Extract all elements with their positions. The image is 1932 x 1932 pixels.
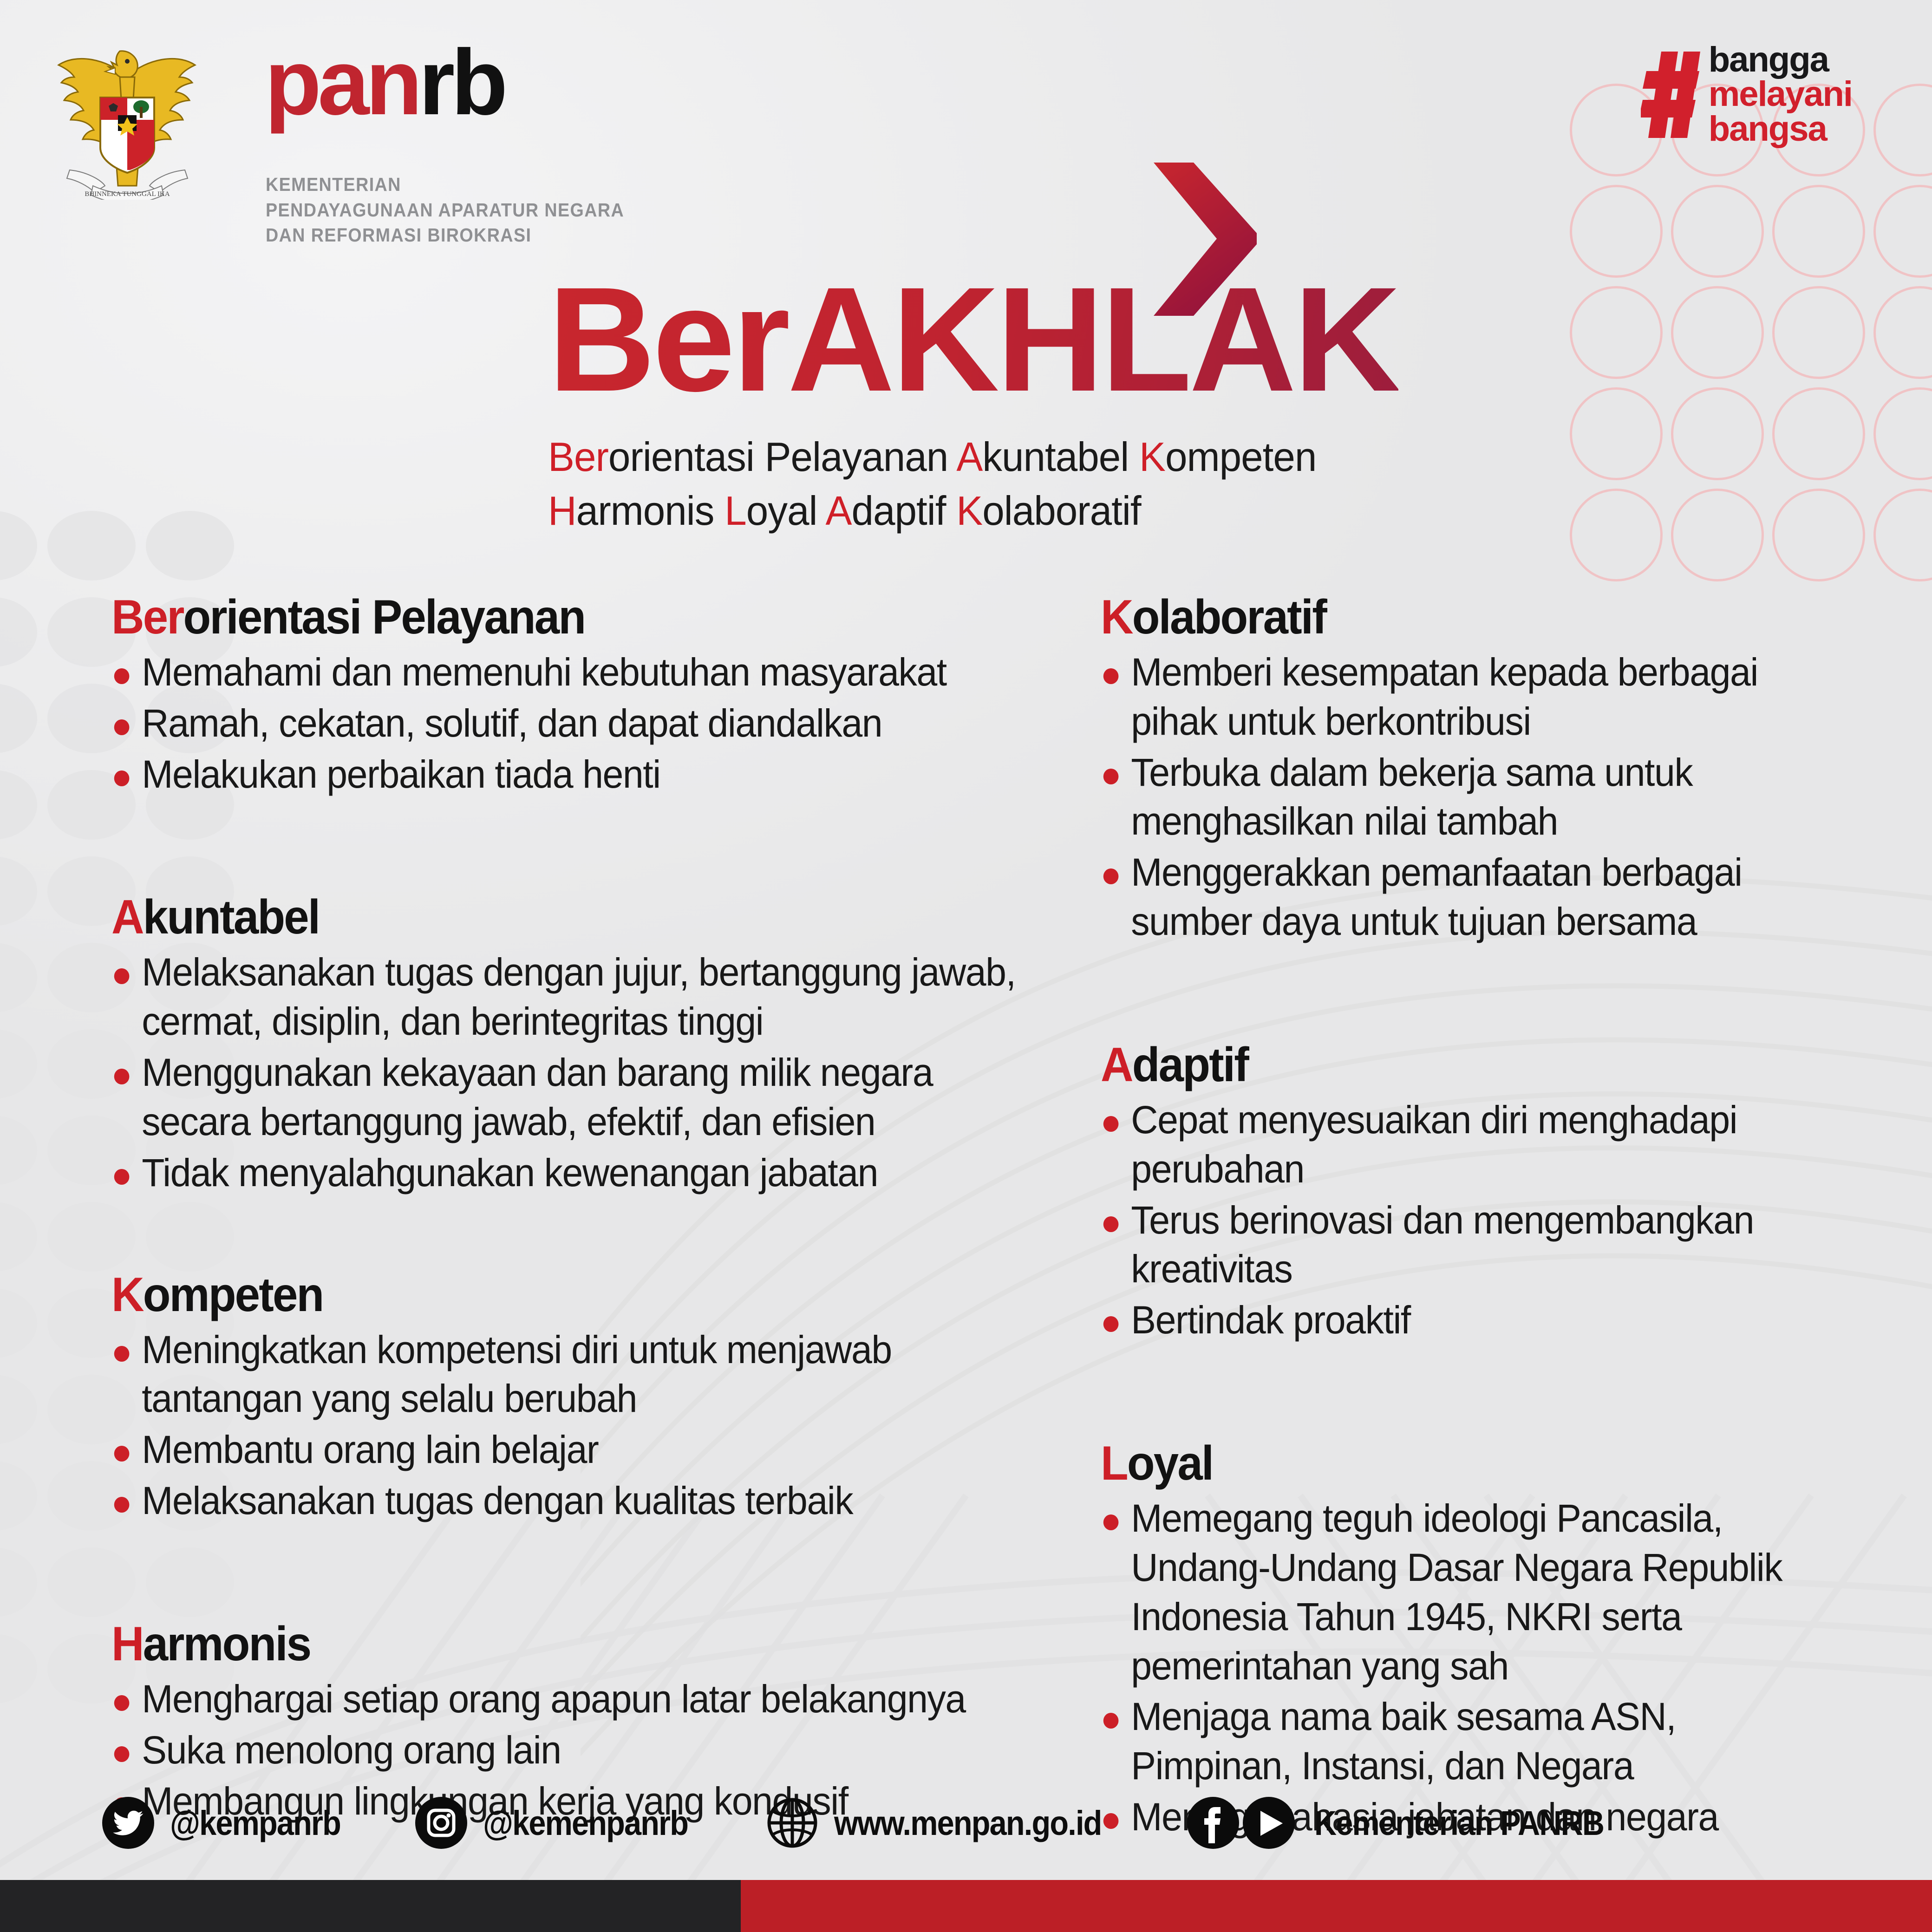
value-point: Menggerakkan pemanfaatan berbagai sumber…	[1101, 848, 1823, 946]
value-point: Terbuka dalam bekerja sama untuk menghas…	[1101, 748, 1823, 847]
value-point-list: Melaksanakan tugas dengan jujur, bertang…	[111, 948, 1073, 1197]
ministry-line-1: KEMENTERIAN	[266, 172, 624, 197]
hero-subtitle-line-2: Harmonis Loyal Adaptif Kolaboratif	[548, 484, 1809, 538]
bottom-accent-bar	[0, 1880, 1932, 1932]
value-point: Meningkatkan kompetensi diri untuk menja…	[111, 1325, 1034, 1424]
twitter-icon	[102, 1797, 154, 1849]
value-point: Memegang teguh ideologi Pancasila, Undan…	[1101, 1494, 1823, 1690]
ministry-line-3: DAN REFORMASI BIROKRASI	[266, 222, 624, 248]
value-point: Terus berinovasi dan mengembangkan kreat…	[1101, 1196, 1823, 1294]
value-title-initial: A	[111, 890, 143, 944]
value-title: Akuntabel	[111, 890, 1015, 945]
decorative-dot	[0, 1288, 37, 1358]
decorative-dot	[47, 511, 136, 581]
value-title-rest: olaboratif	[1132, 590, 1326, 644]
hero-section: BerAKHLAK Berorientasi Pelayanan Akuntab…	[548, 265, 1848, 538]
value-point-list: Memahami dan memenuhi kebutuhan masyarak…	[111, 648, 1073, 799]
value-title-rest: oyal	[1127, 1436, 1213, 1490]
instagram-icon	[415, 1797, 467, 1849]
value-title-initial: Ber	[111, 590, 183, 644]
subtitle-highlight-letter: A	[826, 488, 852, 534]
tagline-line-3: bangsa	[1709, 112, 1852, 146]
value-title: Kolaboratif	[1101, 590, 1808, 645]
value-point: Suka menolong orang lain	[111, 1726, 1034, 1775]
value-point: Bertindak proaktif	[1101, 1296, 1823, 1345]
value-point: Melaksanakan tugas dengan kualitas terba…	[111, 1476, 1034, 1526]
decorative-dot	[0, 1202, 37, 1272]
value-block: KolaboratifMemberi kesempatan kepada ber…	[1101, 590, 1853, 946]
tagline-line-2: melayani	[1709, 77, 1852, 111]
value-point: Melakukan perbaikan tiada henti	[111, 750, 1034, 799]
garuda-emblem-icon: BHINNEKA TUNGGAL IKA	[50, 33, 203, 200]
value-title: Loyal	[1101, 1436, 1808, 1491]
subtitle-text: orientasi Pelayanan	[608, 434, 956, 480]
subtitle-text: olaboratif	[982, 488, 1141, 534]
value-title: Adaptif	[1101, 1038, 1808, 1093]
subtitle-text: kuntabel	[982, 434, 1139, 480]
footer-label-instagram: @kemenpanrb	[483, 1803, 688, 1843]
value-title-rest: armonis	[143, 1617, 311, 1671]
page-title: BerAKHLAK	[548, 265, 1398, 413]
subtitle-text: armonis	[576, 488, 725, 534]
panrb-wordmark-rb: rb	[419, 31, 504, 134]
value-block: AdaptifCepat menyesuaikan diri menghadap…	[1101, 1038, 1853, 1345]
subtitle-highlight-letter: Ber	[548, 434, 608, 480]
decorative-dot	[0, 511, 37, 581]
decorative-circle	[1873, 387, 1932, 480]
decorative-dot	[0, 1375, 37, 1444]
tagline-line-1: bangga	[1709, 43, 1852, 77]
values-column-right: KolaboratifMemberi kesempatan kepada ber…	[1101, 590, 1853, 1886]
value-point: Cepat menyesuaikan diri menghadapi perub…	[1101, 1096, 1823, 1194]
hero-subtitle: Berorientasi Pelayanan Akuntabel Kompete…	[548, 430, 1809, 538]
decorative-dot	[0, 770, 37, 840]
footer-label-facebook-youtube: Kementerian PANRB	[1314, 1803, 1604, 1843]
subtitle-text: oyal	[746, 488, 826, 534]
decorative-dot	[0, 597, 37, 667]
subtitle-highlight-letter: K	[956, 488, 982, 534]
value-block: Berorientasi PelayananMemahami dan memen…	[111, 590, 1073, 799]
value-title-rest: kuntabel	[143, 890, 319, 944]
chevron-right-icon	[1147, 163, 1259, 316]
bangga-melayani-bangsa-logo: bangga melayani bangsa	[1641, 43, 1852, 146]
hashtag-icon	[1641, 51, 1700, 139]
subtitle-highlight-letter: A	[956, 434, 982, 480]
value-title-rest: daptif	[1132, 1038, 1248, 1092]
value-title-rest: ompeten	[143, 1268, 323, 1322]
value-block: KompetenMeningkatkan kompetensi diri unt…	[111, 1267, 1073, 1526]
value-point: Membantu orang lain belajar	[111, 1425, 1034, 1475]
value-title-initial: H	[111, 1617, 143, 1671]
hero-title-wrap: BerAKHLAK	[548, 265, 1848, 418]
value-point: Ramah, cekatan, solutif, dan dapat diand…	[111, 699, 1034, 748]
bottom-bar-red-segment	[741, 1880, 1932, 1932]
value-title: Berorientasi Pelayanan	[111, 590, 1015, 645]
value-point: Menggunakan kekayaan dan barang milik ne…	[111, 1048, 1034, 1147]
decorative-circle	[1873, 489, 1932, 581]
value-point: Menghargai setiap orang apapun latar bel…	[111, 1675, 1034, 1724]
bottom-bar-dark-segment	[0, 1880, 741, 1932]
subtitle-highlight-letter: H	[548, 488, 576, 534]
footer-label-twitter: @kempanrb	[170, 1803, 340, 1843]
value-block: AkuntabelMelaksanakan tugas dengan jujur…	[111, 890, 1073, 1197]
value-point: Tidak menyalahgunakan kewenangan jabatan	[111, 1149, 1034, 1198]
decorative-circle	[1873, 286, 1932, 379]
facebook-youtube-icon	[1187, 1797, 1299, 1849]
value-point-list: Meningkatkan kompetensi diri untuk menja…	[111, 1325, 1073, 1526]
decorative-dot	[0, 1461, 37, 1531]
value-title-rest: orientasi Pelayanan	[183, 590, 585, 644]
value-title-initial: K	[111, 1268, 143, 1322]
decorative-dot	[0, 1547, 37, 1617]
value-point-list: Memberi kesempatan kepada berbagai pihak…	[1101, 648, 1853, 946]
subtitle-text: ompeten	[1165, 434, 1316, 480]
page-footer: @kempanrb @kemenpanrb www.menpan.go.id	[0, 1769, 1932, 1876]
decorative-dot	[0, 1029, 37, 1099]
value-point: Memahami dan memenuhi kebutuhan masyarak…	[111, 648, 1034, 697]
values-column-left: Berorientasi PelayananMemahami dan memen…	[111, 590, 1073, 1870]
panrb-wordmark-pan: pan	[265, 31, 419, 134]
value-point-list: Cepat menyesuaikan diri menghadapi perub…	[1101, 1096, 1853, 1345]
decorative-dot	[0, 856, 37, 926]
panrb-wordmark: panrb	[265, 36, 504, 129]
ministry-line-2: PENDAYAGUNAAN APARATUR NEGARA	[266, 197, 624, 223]
subtitle-highlight-letter: K	[1139, 434, 1165, 480]
bangga-melayani-bangsa-text: bangga melayani bangsa	[1709, 43, 1852, 146]
subtitle-text: daptif	[851, 488, 956, 534]
footer-item-instagram[interactable]: @kemenpanrb	[415, 1797, 711, 1849]
hero-subtitle-line-1: Berorientasi Pelayanan Akuntabel Kompete…	[548, 430, 1809, 484]
footer-label-website: www.menpan.go.id	[834, 1803, 1102, 1843]
decorative-dot	[0, 1634, 37, 1704]
decorative-dot	[0, 943, 37, 1012]
footer-item-website[interactable]: www.menpan.go.id	[766, 1797, 1131, 1849]
value-title: Harmonis	[111, 1617, 1015, 1672]
decorative-dot	[0, 1116, 37, 1185]
value-point: Memberi kesempatan kepada berbagai pihak…	[1101, 648, 1823, 746]
value-point: Melaksanakan tugas dengan jujur, bertang…	[111, 948, 1034, 1046]
value-title-initial: A	[1101, 1038, 1132, 1092]
value-title-initial: L	[1101, 1436, 1127, 1490]
value-title-initial: K	[1101, 590, 1132, 644]
page-header: BHINNEKA TUNGGAL IKA panrb KEMENTERIAN P…	[0, 0, 1932, 260]
ministry-name: KEMENTERIAN PENDAYAGUNAAN APARATUR NEGAR…	[266, 172, 624, 248]
globe-icon	[766, 1797, 818, 1849]
decorative-dot	[146, 511, 234, 581]
svg-text:BHINNEKA TUNGGAL IKA: BHINNEKA TUNGGAL IKA	[85, 190, 170, 198]
footer-item-twitter[interactable]: @kempanrb	[102, 1797, 359, 1849]
subtitle-highlight-letter: L	[724, 488, 746, 534]
decorative-dot	[0, 684, 37, 753]
value-title: Kompeten	[111, 1267, 1015, 1323]
footer-item-facebook-youtube[interactable]: Kementerian PANRB	[1187, 1797, 1636, 1849]
